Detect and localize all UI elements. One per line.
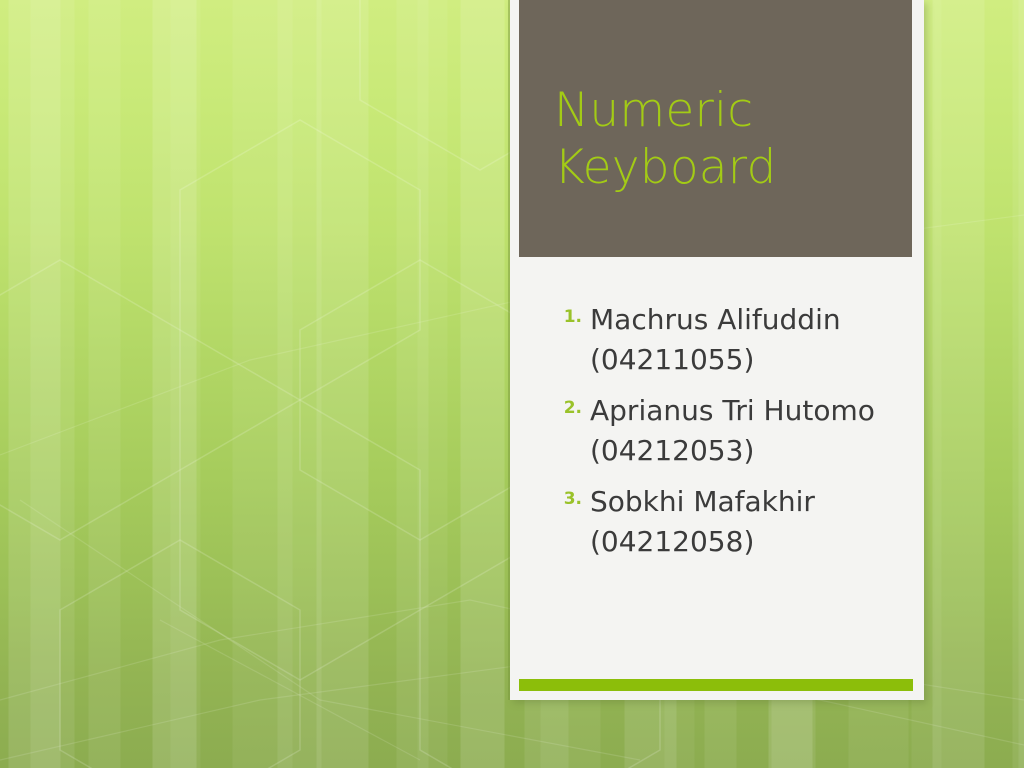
title-block: Numeric Keyboard	[519, 0, 912, 257]
list-item: Sobkhi Mafakhir (04212058)	[532, 482, 900, 562]
team-member-list: Machrus Alifuddin (04211055) Aprianus Tr…	[532, 300, 900, 573]
page-title: Numeric Keyboard	[554, 82, 904, 196]
presentation-slide: Numeric Keyboard Machrus Alifuddin (0421…	[0, 0, 1024, 768]
list-item: Aprianus Tri Hutomo (04212053)	[532, 391, 900, 471]
list-item: Machrus Alifuddin (04211055)	[532, 300, 900, 380]
list-item-label: Machrus Alifuddin (04211055)	[590, 303, 841, 376]
content-card: Numeric Keyboard Machrus Alifuddin (0421…	[510, 0, 924, 700]
list-item-label: Aprianus Tri Hutomo (04212053)	[590, 394, 875, 467]
accent-bar	[519, 679, 913, 691]
list-item-label: Sobkhi Mafakhir (04212058)	[590, 485, 815, 558]
